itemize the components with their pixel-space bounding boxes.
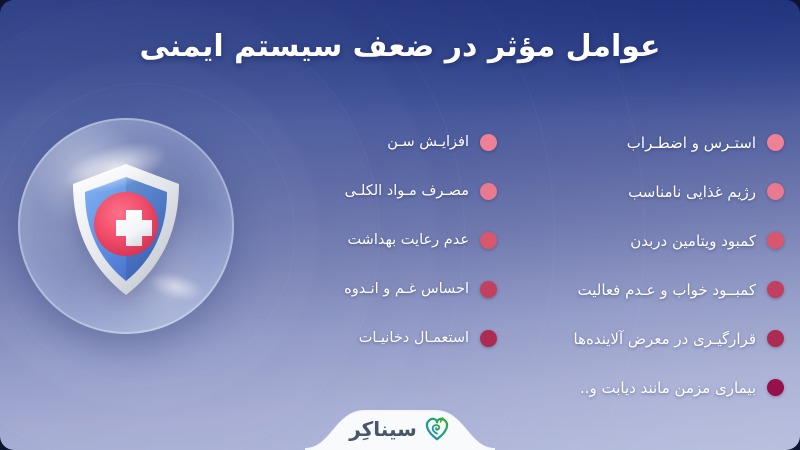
list-item[interactable]: مصـرف مـواد الکلـی: [277, 167, 497, 216]
list-item-label: کمبــود خواب و عـدم فعالیت: [578, 281, 757, 299]
list-item[interactable]: کمبود ویتامین دربدن: [519, 216, 784, 265]
list-item[interactable]: استـرس و اضطـراب: [519, 118, 784, 167]
page-title: عوامل مؤثر در ضعف سیستم ایمنی: [0, 28, 800, 66]
factors-column-right: استـرس و اضطـراب رژیم غذایی نامناسب کمبو…: [519, 118, 784, 412]
list-item-label: قرارگیـری در معرض آلاینده‌ها: [574, 330, 756, 348]
list-item-label: عدم رعایت بهداشت: [347, 232, 469, 249]
list-item[interactable]: افزایـش سـن: [277, 118, 497, 167]
bullet-icon: [767, 379, 784, 396]
list-item-label: کمبود ویتامین دربدن: [630, 232, 756, 250]
bullet-icon: [480, 281, 497, 298]
list-item-label: مصـرف مـواد الکلـی: [345, 183, 469, 200]
list-item-label: استعمـال دخانیـات: [359, 330, 469, 347]
bullet-icon: [480, 134, 497, 151]
list-item[interactable]: استعمـال دخانیـات: [277, 314, 497, 363]
bullet-icon: [480, 232, 497, 249]
list-item[interactable]: رژیم غذایی نامناسب: [519, 167, 784, 216]
bullet-icon: [767, 281, 784, 298]
list-item-label: بیماری مزمن مانند دیابت و..: [580, 379, 756, 397]
bullet-icon: [767, 232, 784, 249]
factors-column-left: افزایـش سـن مصـرف مـواد الکلـی عدم رعایت…: [277, 118, 497, 412]
logo-wordmark: سیناکِر: [349, 419, 417, 439]
list-item[interactable]: بیماری مزمن مانند دیابت و..: [519, 363, 784, 412]
list-item-label: رژیم غذایی نامناسب: [628, 183, 756, 201]
infographic-canvas: عوامل مؤثر در ضعف سیستم ایمنی: [0, 0, 800, 450]
bullet-icon: [480, 183, 497, 200]
list-item-label: استـرس و اضطـراب: [627, 134, 756, 152]
immune-shield-sphere-graphic: [18, 118, 234, 334]
list-item-label: افزایـش سـن: [387, 134, 469, 151]
list-item[interactable]: کمبــود خواب و عـدم فعالیت: [519, 265, 784, 314]
bullet-icon: [767, 183, 784, 200]
factors-lists: استـرس و اضطـراب رژیم غذایی نامناسب کمبو…: [255, 118, 784, 412]
brand-logo[interactable]: سیناکِر: [305, 404, 495, 450]
bullet-icon: [480, 330, 497, 347]
list-item[interactable]: عدم رعایت بهداشت: [277, 216, 497, 265]
list-item-label: احساس غـم و انـدوه: [344, 281, 469, 298]
heart-leaf-icon: [423, 414, 451, 442]
bullet-icon: [767, 134, 784, 151]
list-item[interactable]: قرارگیـری در معرض آلاینده‌ها: [519, 314, 784, 363]
bullet-icon: [767, 330, 784, 347]
list-item[interactable]: احساس غـم و انـدوه: [277, 265, 497, 314]
